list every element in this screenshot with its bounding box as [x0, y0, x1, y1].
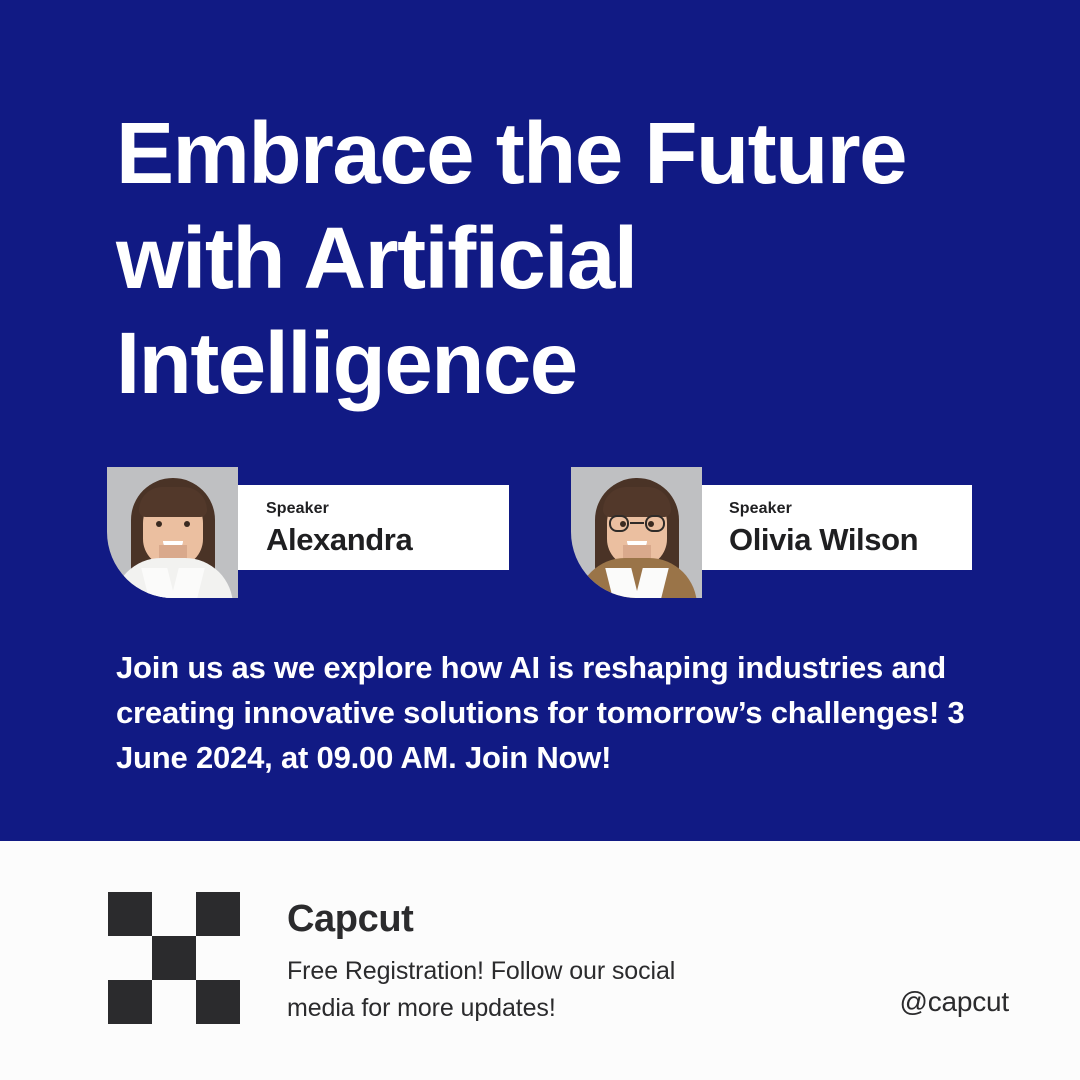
social-handle: @capcut	[899, 985, 1009, 1019]
speaker-card[interactable]: Speaker Alexandra	[107, 467, 509, 599]
avatar	[571, 467, 702, 598]
brand-name: Capcut	[287, 896, 413, 942]
speaker-name: Olivia Wilson	[729, 521, 972, 559]
speaker-name: Alexandra	[266, 521, 509, 559]
event-poster: Embrace the Future with Artificial Intel…	[0, 0, 1080, 1080]
speaker-role-label: Speaker	[266, 499, 509, 519]
speaker-role-label: Speaker	[729, 499, 972, 519]
speaker-name-plate: Speaker Olivia Wilson	[701, 485, 972, 570]
glasses-icon	[609, 515, 665, 533]
event-description: Join us as we explore how AI is reshapin…	[116, 645, 986, 780]
brand-tagline: Free Registration! Follow our social med…	[287, 953, 717, 1027]
page-title: Embrace the Future with Artificial Intel…	[116, 101, 1016, 416]
avatar	[107, 467, 238, 598]
speaker-card[interactable]: Speaker Olivia Wilson	[571, 467, 972, 599]
checkerboard-logo-icon	[108, 892, 240, 1024]
speaker-name-plate: Speaker Alexandra	[238, 485, 509, 570]
speaker-list: Speaker Alexandra	[107, 467, 987, 599]
